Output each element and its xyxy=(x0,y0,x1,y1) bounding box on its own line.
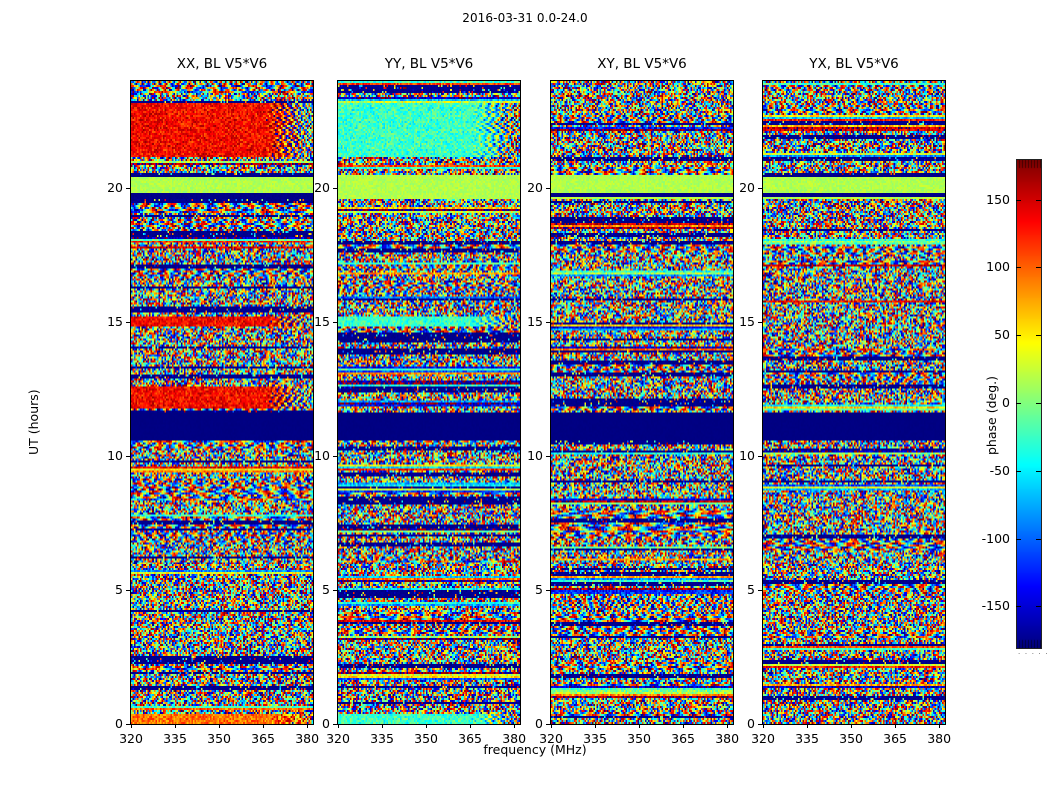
x-tick-label: 320 xyxy=(106,731,156,746)
y-tick-label: 10 xyxy=(503,448,543,463)
y-tickmark xyxy=(758,724,762,725)
x-tickmark xyxy=(683,724,684,728)
y-tick-label: 5 xyxy=(503,582,543,597)
y-tick-label: 15 xyxy=(715,314,755,329)
x-tickmark xyxy=(382,724,383,728)
x-tick-label: 350 xyxy=(194,731,244,746)
y-tickmark xyxy=(546,322,550,323)
y-tick-label: 0 xyxy=(83,716,123,731)
y-tickmark xyxy=(333,188,337,189)
x-tick-label: 320 xyxy=(738,731,788,746)
x-tickmark xyxy=(595,724,596,728)
y-tickmark xyxy=(546,188,550,189)
colorbar-label: phase (deg.) xyxy=(984,376,999,455)
colorbar-extend-marker: · · · · · xyxy=(1018,650,1049,658)
colorbar-tickmark xyxy=(1036,471,1041,472)
colorbar-tickmark xyxy=(1016,539,1021,540)
colorbar[interactable] xyxy=(1016,159,1042,649)
x-tickmark xyxy=(551,724,552,728)
y-tick-label: 5 xyxy=(290,582,330,597)
x-tickmark xyxy=(131,724,132,728)
y-tickmark xyxy=(333,456,337,457)
colorbar-tick-label: -50 xyxy=(954,463,1010,478)
y-tickmark xyxy=(126,456,130,457)
waterfall-panel-yy[interactable] xyxy=(337,80,521,725)
waterfall-image xyxy=(131,81,313,724)
x-tick-label: 350 xyxy=(826,731,876,746)
colorbar-tickmark xyxy=(1036,335,1041,336)
x-tick-label: 380 xyxy=(914,731,964,746)
y-tick-label: 20 xyxy=(290,180,330,195)
y-tickmark xyxy=(126,322,130,323)
y-tickmark xyxy=(758,590,762,591)
y-tickmark xyxy=(546,590,550,591)
x-tick-label: 335 xyxy=(782,731,832,746)
waterfall-panel-xy[interactable] xyxy=(550,80,734,725)
waterfall-image xyxy=(338,81,520,724)
x-tick-label: 335 xyxy=(150,731,200,746)
x-tick-label: 365 xyxy=(870,731,920,746)
x-tickmark xyxy=(807,724,808,728)
y-tickmark xyxy=(758,322,762,323)
y-tick-label: 10 xyxy=(715,448,755,463)
y-tick-label: 5 xyxy=(715,582,755,597)
y-tickmark xyxy=(546,724,550,725)
y-tickmark xyxy=(333,322,337,323)
colorbar-tickmark xyxy=(1016,267,1021,268)
colorbar-tick-label: -100 xyxy=(954,531,1010,546)
waterfall-image xyxy=(551,81,733,724)
colorbar-tickmark xyxy=(1016,200,1021,201)
y-tick-label: 0 xyxy=(290,716,330,731)
y-tick-label: 15 xyxy=(503,314,543,329)
colorbar-tick-label: 150 xyxy=(954,192,1010,207)
colorbar-tickmark xyxy=(1036,606,1041,607)
colorbar-tickmark xyxy=(1036,200,1041,201)
x-tick-label: 365 xyxy=(238,731,288,746)
y-tickmark xyxy=(758,188,762,189)
x-tickmark xyxy=(470,724,471,728)
matplotlib-figure: 2016-03-31 0.0-24.0 XX, BL V5*V632033535… xyxy=(0,0,1050,800)
colorbar-tickmark xyxy=(1016,606,1021,607)
waterfall-panel-xx[interactable] xyxy=(130,80,314,725)
x-tickmark xyxy=(851,724,852,728)
y-tickmark xyxy=(126,188,130,189)
y-tick-label: 20 xyxy=(83,180,123,195)
colorbar-tick-label: -150 xyxy=(954,598,1010,613)
panel-title-yx: YX, BL V5*V6 xyxy=(723,56,985,72)
colorbar-tickmark xyxy=(1016,335,1021,336)
y-tick-label: 10 xyxy=(290,448,330,463)
y-tickmark xyxy=(126,724,130,725)
colorbar-tickmark xyxy=(1036,403,1041,404)
colorbar-tick-label: 50 xyxy=(954,327,1010,342)
x-tickmark xyxy=(338,724,339,728)
x-tickmark xyxy=(175,724,176,728)
y-tick-label: 15 xyxy=(290,314,330,329)
y-tickmark xyxy=(333,724,337,725)
y-tickmark xyxy=(333,590,337,591)
y-tickmark xyxy=(546,456,550,457)
x-tickmark xyxy=(939,724,940,728)
waterfall-panel-yx[interactable] xyxy=(762,80,946,725)
waterfall-image xyxy=(763,81,945,724)
colorbar-tickmark xyxy=(1036,267,1041,268)
x-tickmark xyxy=(426,724,427,728)
y-tick-label: 5 xyxy=(83,582,123,597)
y-tick-label: 20 xyxy=(503,180,543,195)
x-tickmark xyxy=(895,724,896,728)
y-tickmark xyxy=(126,590,130,591)
colorbar-tick-label: 100 xyxy=(954,259,1010,274)
x-tickmark xyxy=(219,724,220,728)
x-tickmark xyxy=(763,724,764,728)
x-axis-label: frequency (MHz) xyxy=(385,742,685,757)
colorbar-tickmark xyxy=(1036,539,1041,540)
colorbar-tickmark xyxy=(1016,403,1021,404)
x-tick-label: 320 xyxy=(313,731,363,746)
y-tick-label: 15 xyxy=(83,314,123,329)
colorbar-tickmark xyxy=(1016,471,1021,472)
colorbar-tick-label: 0 xyxy=(954,395,1010,410)
x-tickmark xyxy=(639,724,640,728)
y-tick-label: 0 xyxy=(503,716,543,731)
figure-suptitle: 2016-03-31 0.0-24.0 xyxy=(0,11,1050,25)
y-tick-label: 10 xyxy=(83,448,123,463)
y-axis-label: UT (hours) xyxy=(26,389,41,455)
y-tickmark xyxy=(758,456,762,457)
x-tickmark xyxy=(263,724,264,728)
y-tick-label: 0 xyxy=(715,716,755,731)
y-tick-label: 20 xyxy=(715,180,755,195)
